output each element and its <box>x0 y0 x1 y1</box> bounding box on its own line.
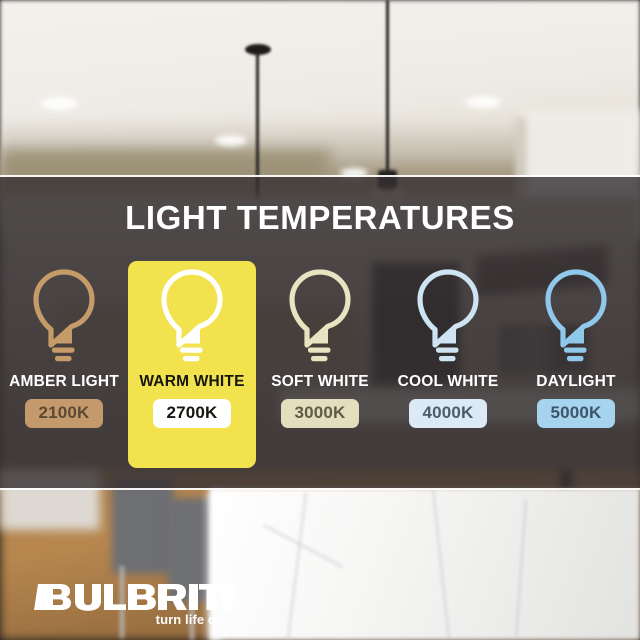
temperature-label: SOFT WHITE <box>271 373 369 391</box>
temperature-column-3000k[interactable]: SOFT WHITE3000K <box>256 255 384 470</box>
temperature-label: WARM WHITE <box>139 373 244 391</box>
recessed-light <box>215 135 247 146</box>
recessed-light <box>40 97 78 110</box>
band-divider-bottom <box>0 488 640 490</box>
temperature-label: AMBER LIGHT <box>9 373 119 391</box>
brand-tagline: turn life on <box>156 612 224 627</box>
marble-island <box>210 488 640 640</box>
light-bulb-icon <box>534 267 618 367</box>
kelvin-badge: 3000K <box>281 399 358 428</box>
light-bulb-icon <box>150 267 234 367</box>
light-bulb-icon <box>22 267 106 367</box>
kelvin-badge: 2700K <box>153 399 230 428</box>
kelvin-badge: 2100K <box>25 399 102 428</box>
recessed-light <box>465 96 501 108</box>
page-title: LIGHT TEMPERATURES <box>0 198 640 238</box>
temperature-label: DAYLIGHT <box>536 373 615 391</box>
kelvin-badge: 5000K <box>537 399 614 428</box>
temperature-column-2700k[interactable]: WARM WHITE2700K <box>128 261 256 468</box>
temperature-column-4000k[interactable]: COOL WHITE4000K <box>384 255 512 470</box>
bulbrite-wordmark <box>34 582 234 612</box>
temperature-scale: AMBER LIGHT2100K WARM WHITE2700K SOFT WH… <box>0 255 640 470</box>
temperature-column-2100k[interactable]: AMBER LIGHT2100K <box>0 255 128 470</box>
brand-logo: turn life on <box>34 582 254 632</box>
light-bulb-icon <box>406 267 490 367</box>
kelvin-badge: 4000K <box>409 399 486 428</box>
light-bulb-icon <box>278 267 362 367</box>
pendant-cord <box>386 0 389 172</box>
temperature-label: COOL WHITE <box>398 373 499 391</box>
bar-stool <box>112 478 174 574</box>
temperature-column-5000k[interactable]: DAYLIGHT5000K <box>512 255 640 470</box>
infographic-canvas: LIGHT TEMPERATURES AMBER LIGHT2100K WARM… <box>0 0 640 640</box>
band-divider-top <box>0 175 640 177</box>
